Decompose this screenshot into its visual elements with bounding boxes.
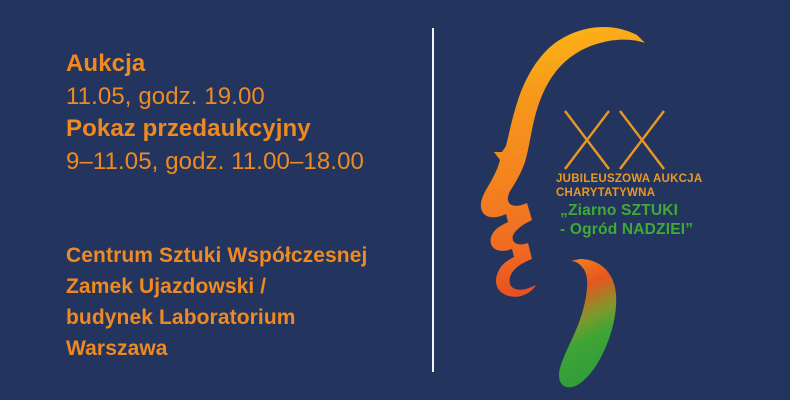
preview-label: Pokaz przedaukcyjny (66, 113, 364, 146)
logo-tagline-line-2: - Ogród NADZIEI” (560, 221, 736, 240)
venue-name-line-1: Centrum Sztuki Współczesnej (66, 240, 367, 271)
xx-roman-numeral-icon (562, 108, 668, 172)
event-label: Aukcja (66, 48, 364, 81)
venue-city-line: Warszawa (66, 333, 367, 364)
auction-datetime: 11.05, godz. 19.00 (66, 81, 364, 114)
auction-poster: Aukcja 11.05, godz. 19.00 Pokaz przedauk… (0, 0, 790, 400)
venue-building-line: budynek Laboratorium (66, 302, 367, 333)
event-details-block: Aukcja 11.05, godz. 19.00 Pokaz przedauk… (66, 48, 364, 178)
venue-address-block: Centrum Sztuki Współczesnej Zamek Ujazdo… (66, 240, 367, 364)
right-logo-panel: JUBILEUSZOWA AUKCJA CHARYTATYWNA „Ziarno… (432, 0, 790, 400)
preview-datetime: 9–11.05, godz. 11.00–18.00 (66, 146, 364, 179)
logo-subtitle-line-2: CHARYTATYWNA (556, 186, 736, 200)
auction-logo-lockup: JUBILEUSZOWA AUKCJA CHARYTATYWNA „Ziarno… (556, 108, 736, 239)
left-text-panel: Aukcja 11.05, godz. 19.00 Pokaz przedauk… (0, 0, 432, 400)
venue-name-line-2: Zamek Ujazdowski / (66, 271, 367, 302)
logo-tagline: „Ziarno SZTUKI - Ogród NADZIEI” (560, 202, 736, 239)
logo-tagline-line-1: „Ziarno SZTUKI (560, 202, 736, 221)
neck-shoulder-shape (559, 259, 616, 387)
logo-subtitle-line-1: JUBILEUSZOWA AUKCJA (556, 172, 736, 186)
